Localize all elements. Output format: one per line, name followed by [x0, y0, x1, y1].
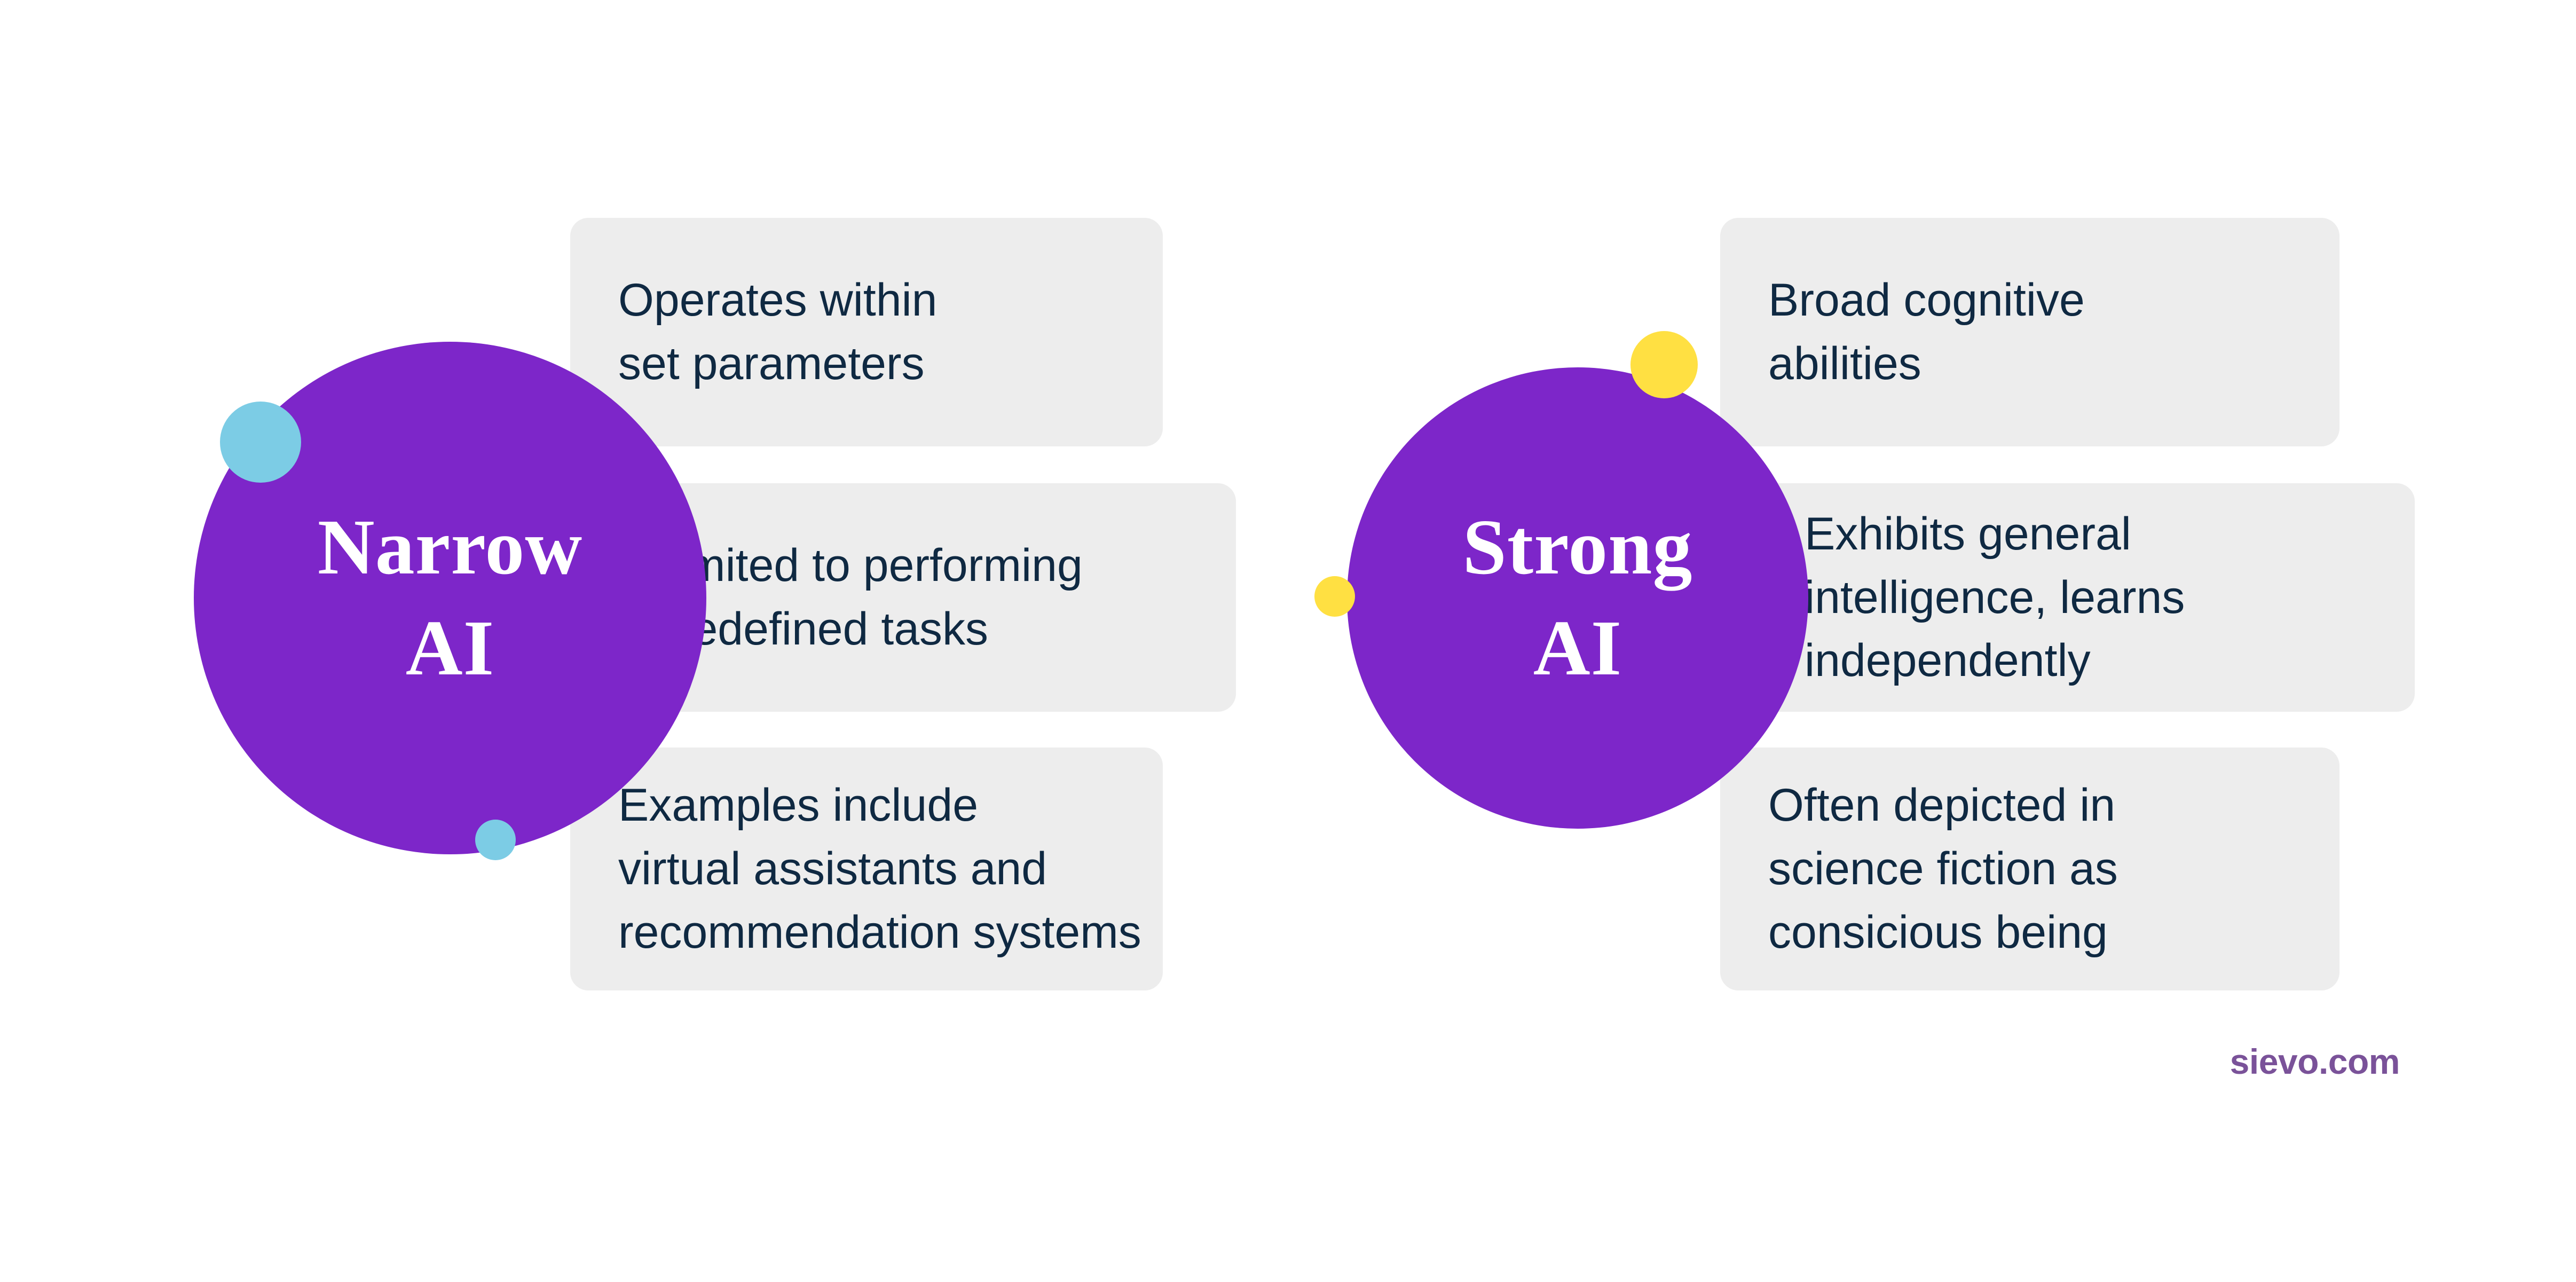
blue-accent-dot-small: [475, 820, 516, 860]
strong-ai-card-2-text: Exhibits general intelligence, learns in…: [1805, 502, 2185, 693]
narrow-ai-card-3-text: Examples include virtual assistants and …: [618, 774, 1141, 964]
narrow-ai-card-1-text: Operates within set parameters: [618, 269, 938, 395]
narrow-ai-label-line2: AI: [406, 598, 494, 699]
strong-ai-card-1-text: Broad cognitive abilities: [1768, 269, 2085, 395]
narrow-ai-card-1: Operates within set parameters: [570, 218, 1163, 446]
strong-ai-circle: Strong AI: [1347, 367, 1808, 829]
strong-ai-label-line1: Strong: [1463, 497, 1693, 598]
yellow-accent-dot-large: [1630, 331, 1698, 398]
narrow-ai-label-line1: Narrow: [318, 497, 582, 598]
narrow-ai-card-3: Examples include virtual assistants and …: [570, 748, 1163, 990]
strong-ai-card-3-text: Often depicted in science fiction as con…: [1768, 774, 2118, 964]
strong-ai-label-line2: AI: [1533, 598, 1622, 699]
strong-ai-card-3: Often depicted in science fiction as con…: [1720, 748, 2339, 990]
narrow-ai-card-2-text: Limited to performing predefined tasks: [651, 534, 1083, 660]
yellow-accent-dot-small: [1314, 576, 1355, 617]
infographic-canvas: Operates within set parameters Limited t…: [0, 0, 2576, 1282]
brand-watermark: sievo.com: [2230, 1041, 2400, 1082]
strong-ai-card-2: Exhibits general intelligence, learns in…: [1756, 483, 2415, 712]
strong-ai-card-1: Broad cognitive abilities: [1720, 218, 2339, 446]
blue-accent-dot-large: [220, 402, 301, 483]
